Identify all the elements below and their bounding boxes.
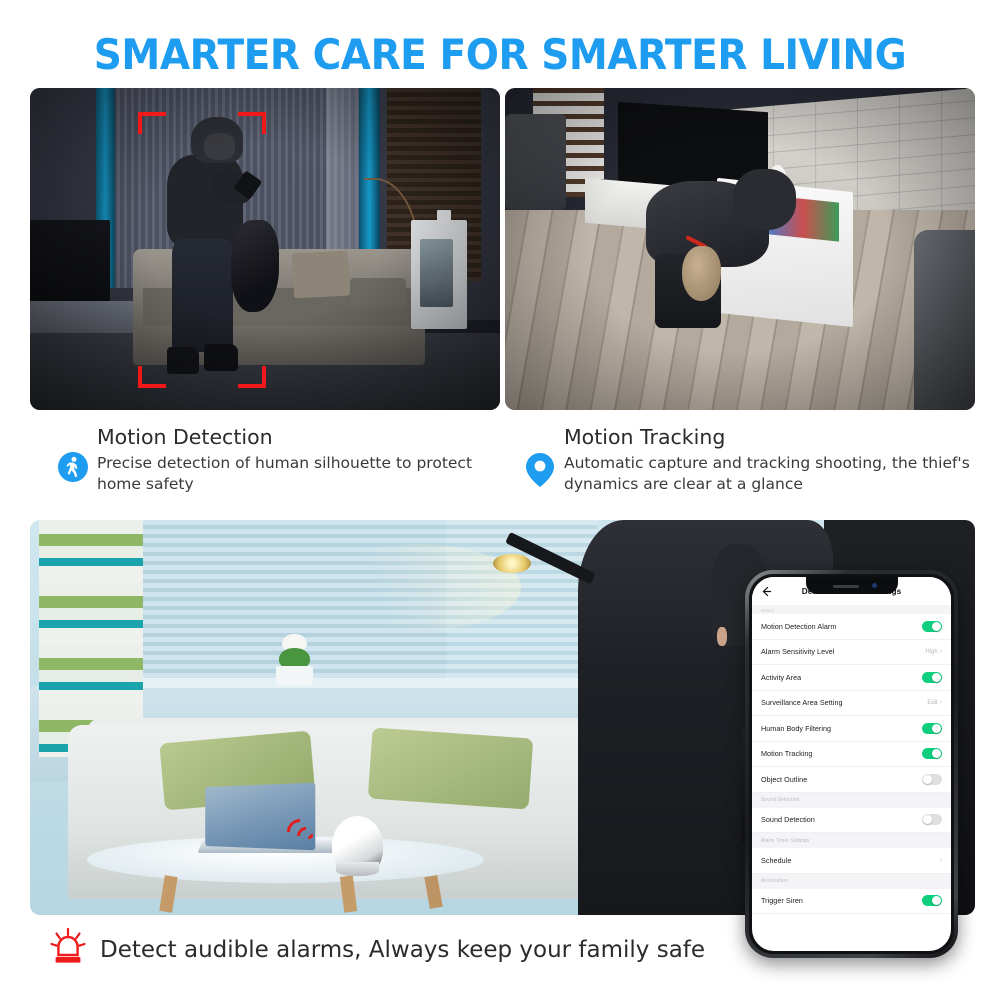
photo-motion-detection — [30, 88, 500, 410]
detection-bracket-bottom-right — [238, 366, 266, 388]
settings-row-label: Schedule — [761, 856, 791, 865]
chevron-right-icon: › — [940, 857, 942, 864]
settings-row-label: Object Outline — [761, 775, 807, 784]
settings-row-label: Surveillance Area Setting — [761, 698, 843, 707]
phone-screen[interactable]: Detection Alarm Settings Motion Motion D… — [752, 577, 951, 951]
settings-row[interactable]: Alarm Sensitivity LevelHigh› — [752, 640, 951, 666]
earpiece-speaker-icon — [833, 585, 859, 588]
toggle-switch-off[interactable] — [922, 814, 942, 825]
settings-section-header: Association — [752, 874, 951, 889]
toggle-switch-on[interactable] — [922, 895, 942, 906]
settings-row-value: High› — [925, 648, 942, 655]
settings-row-label: Motion Tracking — [761, 749, 812, 758]
settings-row-label: Trigger Siren — [761, 896, 803, 905]
bottom-caption-text: Detect audible alarms, Always keep your … — [100, 937, 705, 963]
flashlight-lens — [493, 554, 531, 574]
smartphone-mockup: Detection Alarm Settings Motion Motion D… — [745, 570, 958, 958]
toggle-knob — [923, 815, 932, 824]
settings-row[interactable]: Object Outline — [752, 767, 951, 793]
toggle-knob — [923, 775, 932, 784]
settings-row-label: Activity Area — [761, 673, 801, 682]
map-pin-icon — [525, 452, 555, 493]
settings-row[interactable]: Trigger Siren — [752, 889, 951, 915]
camera-base — [336, 862, 379, 875]
feature-motion-detection: Motion Detection Precise detection of hu… — [58, 424, 508, 495]
toggle-knob — [932, 622, 941, 631]
photo-motion-tracking — [505, 88, 975, 410]
pedestrian-icon — [58, 452, 88, 487]
plant-pot — [276, 666, 314, 686]
detection-bracket-top-right — [238, 112, 266, 134]
chevron-right-icon: › — [940, 648, 942, 655]
settings-row[interactable]: Human Body Filtering — [752, 716, 951, 742]
phone-notch — [806, 577, 898, 594]
detection-bracket-bottom-left — [138, 366, 166, 388]
vignette — [30, 88, 500, 410]
settings-section-header: Sound Detection — [752, 793, 951, 808]
feature-motion-tracking: Motion Tracking Automatic capture and tr… — [525, 424, 985, 495]
toggle-knob — [932, 724, 941, 733]
toggle-knob — [932, 749, 941, 758]
bottom-caption: Detect audible alarms, Always keep your … — [50, 928, 705, 971]
siren-icon — [50, 928, 86, 971]
phone-bezel: Detection Alarm Settings Motion Motion D… — [749, 574, 954, 954]
settings-row[interactable]: Activity Area — [752, 665, 951, 691]
feature-body: Precise detection of human silhouette to… — [97, 453, 508, 496]
settings-row[interactable]: Motion Detection Alarm — [752, 614, 951, 640]
settings-row[interactable]: Surveillance Area SettingEdit› — [752, 691, 951, 717]
back-arrow-icon[interactable] — [760, 585, 773, 598]
toggle-switch-on[interactable] — [922, 723, 942, 734]
toggle-knob — [932, 896, 941, 905]
settings-row-value-text: Edit — [927, 700, 937, 706]
settings-row-value: Edit› — [927, 699, 942, 706]
potted-orchid — [276, 639, 314, 686]
toggle-switch-on[interactable] — [922, 748, 942, 759]
chevron-right-icon: › — [940, 699, 942, 706]
settings-row-label: Sound Detection — [761, 815, 815, 824]
feature-title: Motion Detection — [97, 424, 508, 452]
detection-bracket-top-left — [138, 112, 166, 134]
toggle-knob — [932, 673, 941, 682]
toggle-switch-off[interactable] — [922, 774, 942, 785]
security-camera — [332, 816, 383, 875]
settings-row-value-text: High — [925, 649, 937, 655]
settings-section-header: Alarm Timer Settings — [752, 833, 951, 848]
vignette — [505, 88, 975, 410]
settings-row[interactable]: Schedule› — [752, 848, 951, 874]
settings-list[interactable]: Motion Detection AlarmAlarm Sensitivity … — [752, 614, 951, 914]
settings-row-label: Human Body Filtering — [761, 724, 831, 733]
front-camera-icon — [872, 583, 877, 588]
page-title: SMARTER CARE FOR SMARTER LIVING — [35, 30, 965, 79]
window-sill — [125, 678, 616, 688]
settings-row-label: Motion Detection Alarm — [761, 622, 836, 631]
settings-row[interactable]: Sound Detection — [752, 808, 951, 834]
hand — [717, 627, 727, 647]
clipped-section-header: Motion — [752, 605, 951, 614]
settings-row-label: Alarm Sensitivity Level — [761, 647, 834, 656]
toggle-switch-on[interactable] — [922, 672, 942, 683]
feature-text: Motion Detection Precise detection of hu… — [97, 424, 508, 495]
toggle-switch-on[interactable] — [922, 621, 942, 632]
feature-title: Motion Tracking — [564, 424, 985, 452]
settings-row-value: › — [940, 857, 942, 864]
feature-body: Automatic capture and tracking shooting,… — [564, 453, 985, 496]
settings-row[interactable]: Motion Tracking — [752, 742, 951, 768]
feature-text: Motion Tracking Automatic capture and tr… — [564, 424, 985, 495]
green-pillow — [368, 728, 533, 810]
flashlight-beam — [314, 544, 522, 631]
